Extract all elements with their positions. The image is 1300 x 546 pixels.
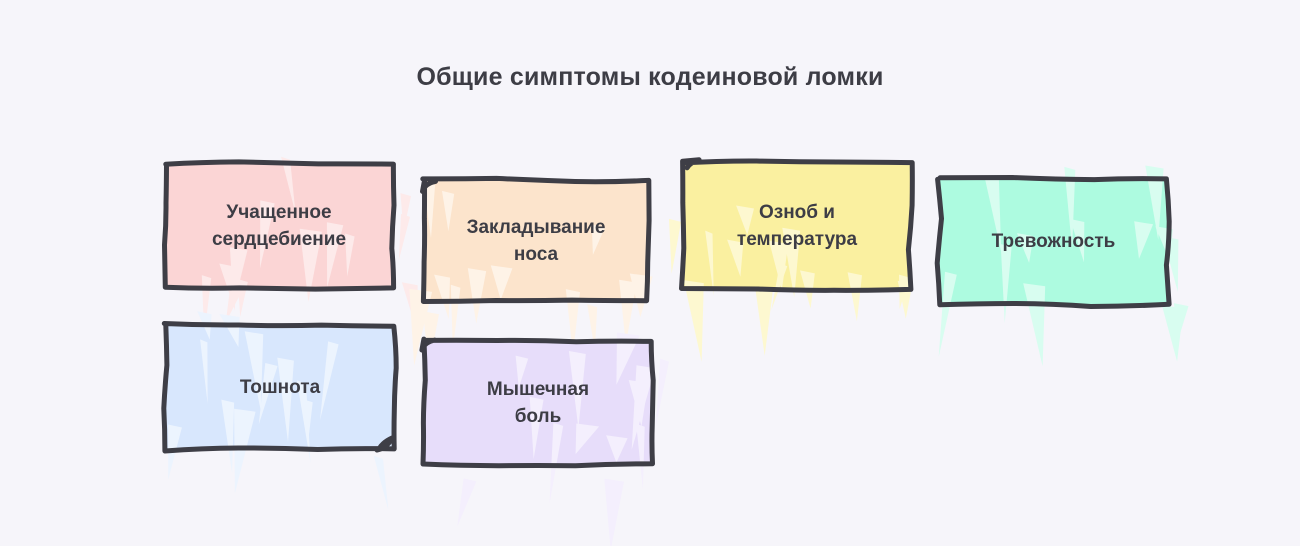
- card-fill: [164, 324, 396, 452]
- symptom-card-chills-and-fever: Озноб и температура: [655, 134, 939, 318]
- card-shape-chills-and-fever: [655, 134, 939, 318]
- card-shape-muscle-pain: [396, 312, 680, 493]
- symptom-card-nausea: Тошнота: [137, 297, 423, 478]
- card-fill: [165, 162, 395, 289]
- symptom-card-muscle-pain: Мышечная боль: [396, 312, 680, 493]
- card-shape-nasal-congestion: [396, 152, 676, 329]
- symptom-card-palpitations: Учащенное сердцебиение: [137, 136, 421, 316]
- symptom-card-board: Учащенное сердцебиениеЗакладывание носаО…: [0, 0, 1300, 546]
- symptom-card-anxiety: Тревожность: [911, 150, 1196, 333]
- card-shape-anxiety: [911, 150, 1196, 333]
- card-fill: [423, 178, 649, 301]
- card-fill: [682, 161, 913, 290]
- card-shape-nausea: [137, 297, 423, 478]
- infographic-root: Общие симптомы кодеиновой ломки Учащенно…: [0, 0, 1300, 546]
- card-shape-palpitations: [137, 136, 421, 316]
- symptom-card-nasal-congestion: Закладывание носа: [396, 152, 676, 329]
- card-fill: [937, 178, 1169, 307]
